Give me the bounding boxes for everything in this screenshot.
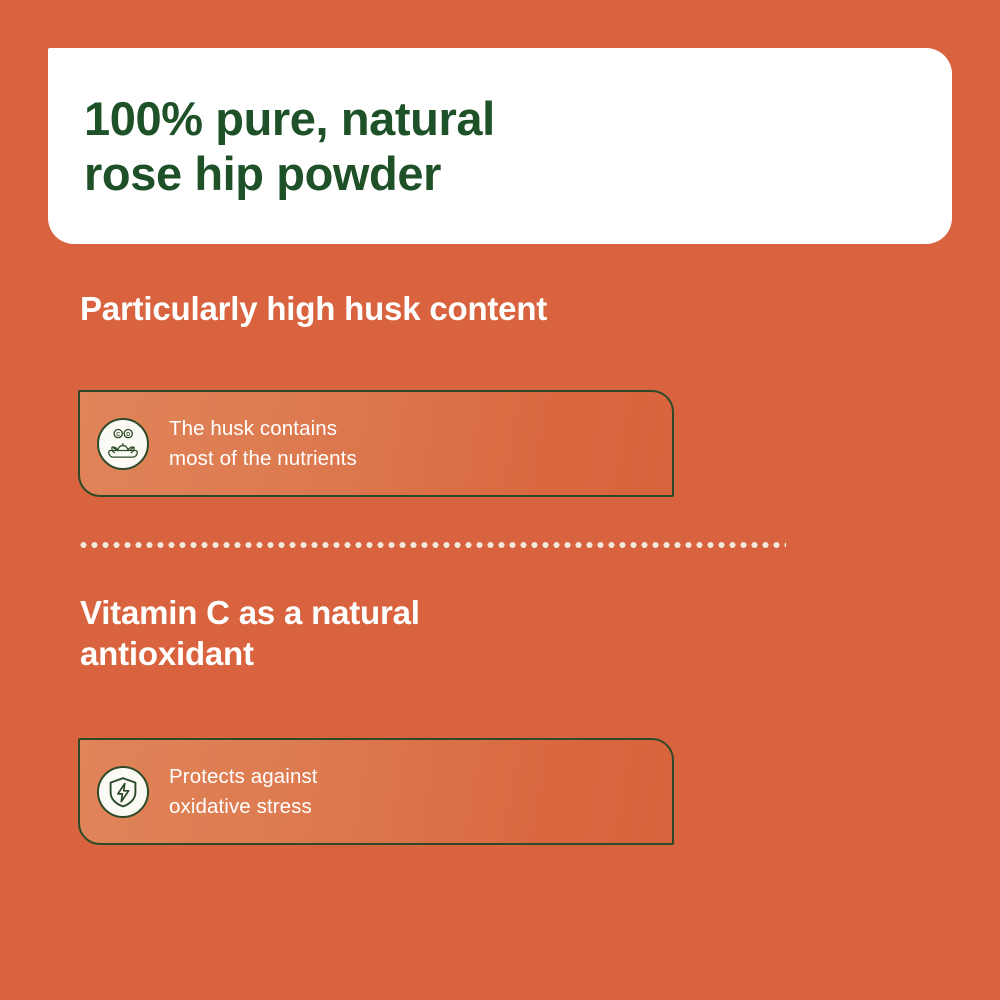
shield-lightning-icon (97, 766, 149, 818)
page-title: 100% pure, natural rose hip powder (84, 91, 952, 202)
feature-card-husk: C D The husk contains most of the nutrie… (78, 390, 674, 497)
section-heading-vitamin-c: Vitamin C as a natural antioxidant (80, 592, 420, 675)
feature-card-husk-text: The husk contains most of the nutrients (169, 414, 357, 472)
svg-text:D: D (126, 432, 130, 438)
feature-card-antioxidant-text: Protects against oxidative stress (169, 762, 318, 820)
section-heading-husk-content: Particularly high husk content (80, 288, 547, 329)
feature-card-antioxidant: Protects against oxidative stress (78, 738, 674, 845)
svg-text:C: C (116, 432, 120, 438)
bowl-of-produce-icon: C D (97, 418, 149, 470)
dotted-divider (78, 542, 786, 548)
hero-card: 100% pure, natural rose hip powder (48, 48, 952, 244)
